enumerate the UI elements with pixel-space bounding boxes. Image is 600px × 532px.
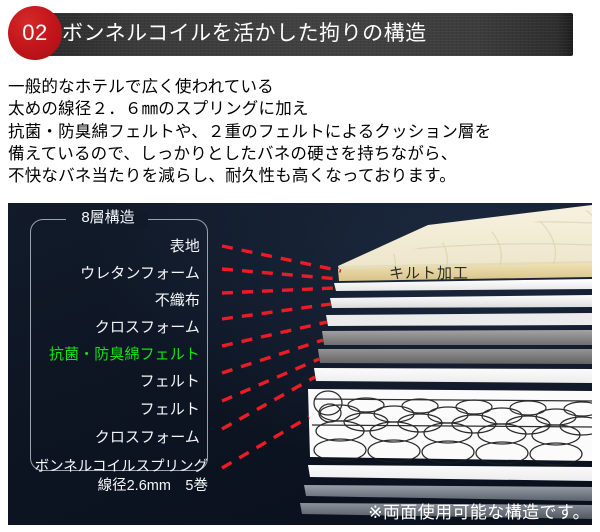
layer-label-6: フェルト — [8, 401, 200, 418]
construction-diagram: キルト加工 8層構造 表地 ウレタンフォーム 不織布 クロスフォーム 抗菌・防臭… — [8, 203, 592, 525]
step-badge-number: 02 — [8, 6, 62, 60]
page-title: ボンネルコイルを活かした拘りの構造 — [62, 17, 562, 51]
bracket-title: 8層構造 — [60, 209, 156, 226]
description-block: 一般的なホテルで広く使われている 太めの線径２．６㎜のスプリングに加え 抗菌・防… — [8, 76, 594, 187]
description-line: 太めの線径２．６㎜のスプリングに加え — [8, 98, 594, 120]
description-line: 抗菌・防臭綿フェルトや、２重のフェルトによるクッション層を — [8, 121, 594, 143]
description-line: 一般的なホテルで広く使われている — [8, 76, 594, 98]
section-header: ボンネルコイルを活かした拘りの構造 02 — [0, 0, 600, 68]
layer-label-4: 抗菌・防臭綿フェルト — [8, 346, 200, 363]
layer-label-5: フェルト — [8, 373, 200, 390]
layer-label-1: ウレタンフォーム — [8, 265, 200, 282]
layer-label-0: 表地 — [8, 238, 200, 255]
step-badge: 02 — [8, 6, 62, 60]
description-line: 備えているので、しっかりとしたバネの硬さを持ちながら、 — [8, 143, 594, 165]
spring-label-line1: ボンネルコイルスプリング — [8, 459, 208, 477]
footnote: ※両面使用可能な構造です。 — [368, 501, 590, 525]
layer-label-3: クロスフォーム — [8, 319, 200, 336]
description-line: 不快なバネ当たりを減らし、耐久性も高くなっております。 — [8, 165, 594, 187]
layer-label-2: 不織布 — [8, 292, 200, 309]
spring-label-line2: 線径2.6mm 5巻 — [8, 478, 208, 496]
quilt-label: キルト加工 — [389, 265, 469, 283]
layer-label-7: クロスフォーム — [8, 429, 200, 446]
